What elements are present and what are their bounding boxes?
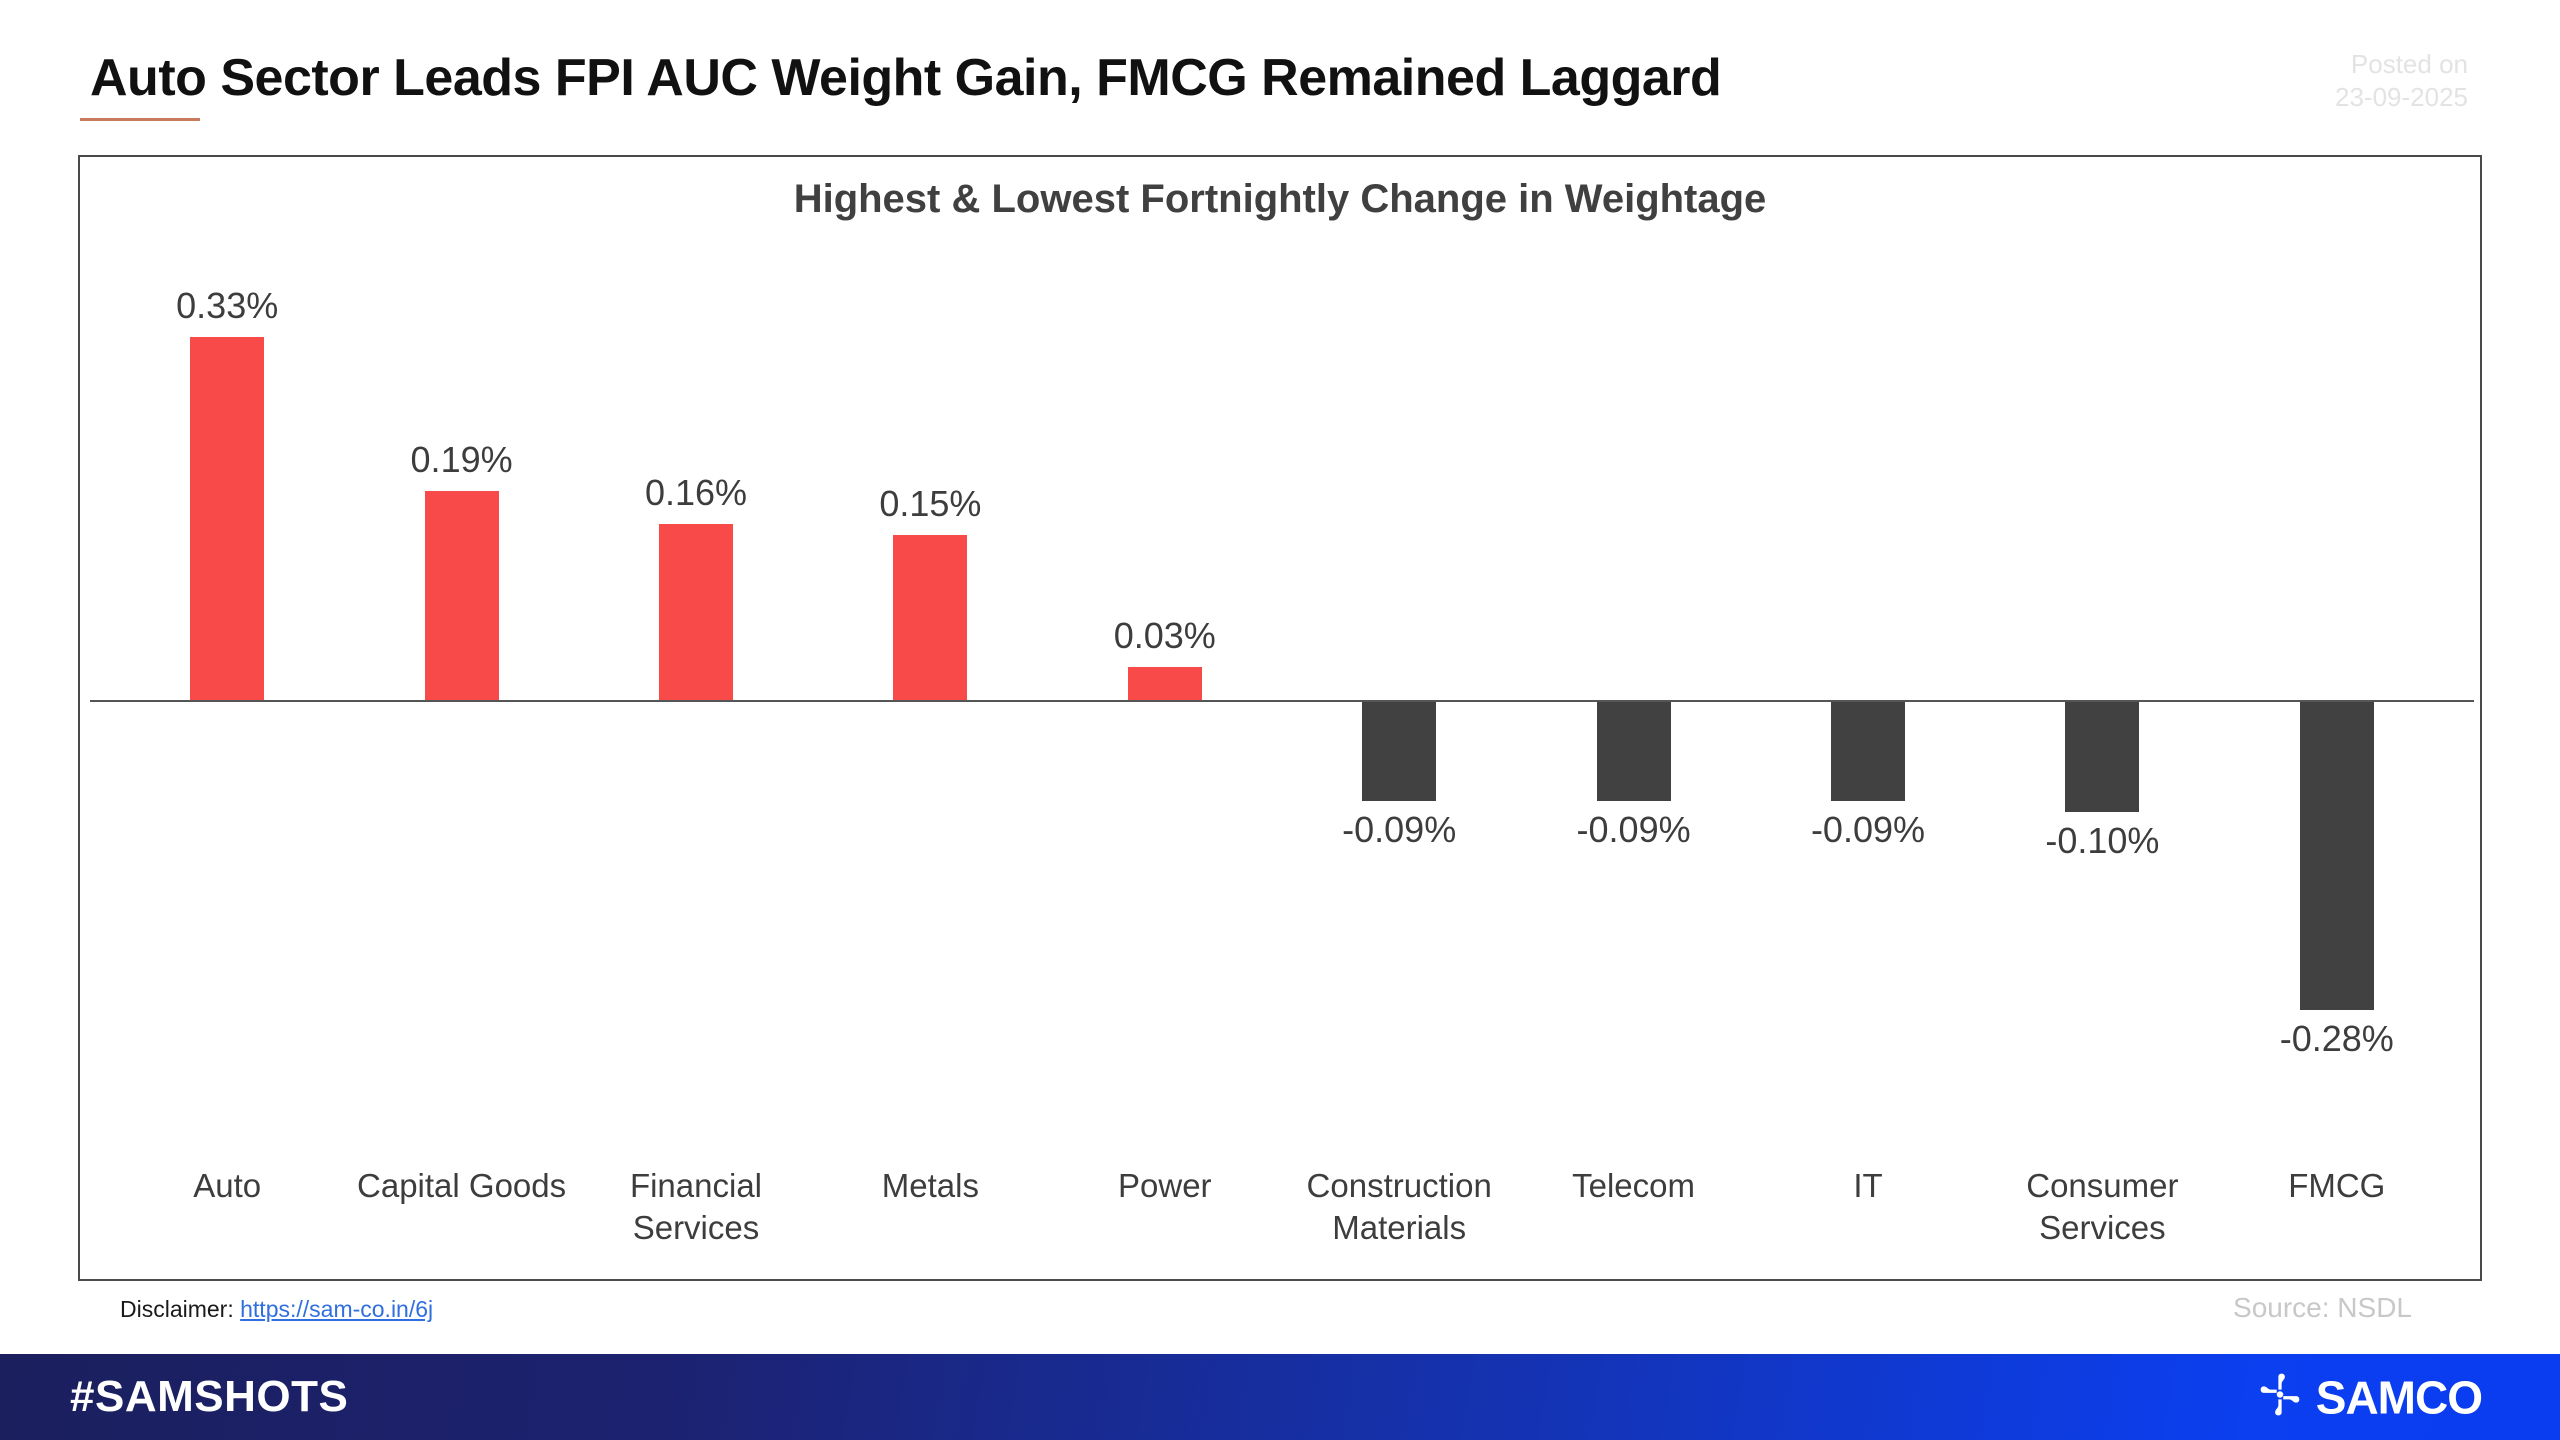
page-header: Auto Sector Leads FPI AUC Weight Gain, F… [0,0,2560,150]
source-note: Source: NSDL [2233,1292,2412,1324]
category-label-line: Consumer [1995,1165,2210,1207]
x-axis-category-label: FinancialServices [588,1165,803,1249]
category-label-line: Metals [823,1165,1038,1207]
bar-column: 0.33%Auto [110,157,344,1283]
bar-column: -0.09%ConstructionMaterials [1282,157,1516,1283]
bar-value-label: 0.33% [176,285,278,327]
bar-positive[interactable] [659,524,733,700]
bar-value-label: -0.28% [2280,1018,2394,1060]
disclaimer-label: Disclaimer: [120,1296,234,1322]
bar-value-label: 0.16% [645,472,747,514]
bar-column: -0.09%IT [1751,157,1985,1283]
samco-pinwheel-icon [2254,1369,2306,1426]
bar-value-label: -0.09% [1811,809,1925,851]
brand-footer-bar: #SAMSHOTS SAMCO [0,1354,2560,1440]
category-label-line: IT [1760,1165,1975,1207]
posted-on-block: Posted on 23-09-2025 [2335,48,2468,113]
x-axis-category-label: Telecom [1526,1165,1741,1207]
bar-column: -0.10%ConsumerServices [1985,157,2219,1283]
bar-negative[interactable] [1597,702,1671,801]
bar-column: 0.15%Metals [813,157,1047,1283]
posted-on-date: 23-09-2025 [2335,81,2468,114]
disclaimer: Disclaimer: https://sam-co.in/6j [120,1296,433,1323]
category-label-line: Materials [1292,1207,1507,1249]
category-label-line: Financial [588,1165,803,1207]
bar-column: 0.03%Power [1048,157,1282,1283]
x-axis-category-label: Metals [823,1165,1038,1207]
category-label-line: Construction [1292,1165,1507,1207]
bar-value-label: -0.09% [1577,809,1691,851]
x-axis-category-label: Power [1057,1165,1272,1207]
bar-value-label: -0.10% [2045,820,2159,862]
category-label-line: Power [1057,1165,1272,1207]
bar-value-label: 0.03% [1114,615,1216,657]
bar-negative[interactable] [2300,702,2374,1010]
bar-value-label: 0.15% [879,483,981,525]
x-axis-category-label: ConstructionMaterials [1292,1165,1507,1249]
category-label-line: Capital Goods [354,1165,569,1207]
category-label-line: Services [1995,1207,2210,1249]
bar-column: 0.16%FinancialServices [579,157,813,1283]
bar-negative[interactable] [1831,702,1905,801]
title-accent-underline [80,118,200,121]
bar-value-label: 0.19% [411,439,513,481]
bar-positive[interactable] [190,337,264,700]
category-label-line: FMCG [2229,1165,2444,1207]
x-axis-category-label: FMCG [2229,1165,2444,1207]
page-title: Auto Sector Leads FPI AUC Weight Gain, F… [90,48,1721,108]
bar-negative[interactable] [1362,702,1436,801]
samshots-hashtag: #SAMSHOTS [70,1372,348,1422]
chart-panel: Highest & Lowest Fortnightly Change in W… [78,155,2482,1281]
bar-positive[interactable] [1128,667,1202,700]
category-label-line: Auto [120,1165,335,1207]
bar-positive[interactable] [893,535,967,700]
x-axis-category-label: Auto [120,1165,335,1207]
disclaimer-link[interactable]: https://sam-co.in/6j [240,1296,433,1322]
bar-chart-plot-area: 0.33%Auto0.19%Capital Goods0.16%Financia… [80,157,2484,1283]
infographic-page: Auto Sector Leads FPI AUC Weight Gain, F… [0,0,2560,1440]
category-label-line: Services [588,1207,803,1249]
x-axis-category-label: ConsumerServices [1995,1165,2210,1249]
bar-value-label: -0.09% [1342,809,1456,851]
bar-column: 0.19%Capital Goods [344,157,578,1283]
x-axis-category-label: Capital Goods [354,1165,569,1207]
category-label-line: Telecom [1526,1165,1741,1207]
x-axis-category-label: IT [1760,1165,1975,1207]
samco-wordmark: SAMCO [2316,1370,2482,1424]
bar-column: -0.28%FMCG [2220,157,2454,1283]
bar-negative[interactable] [2065,702,2139,812]
bar-column: -0.09%Telecom [1516,157,1750,1283]
posted-on-label: Posted on [2335,48,2468,81]
samco-logo: SAMCO [2254,1369,2482,1426]
bar-positive[interactable] [425,491,499,700]
